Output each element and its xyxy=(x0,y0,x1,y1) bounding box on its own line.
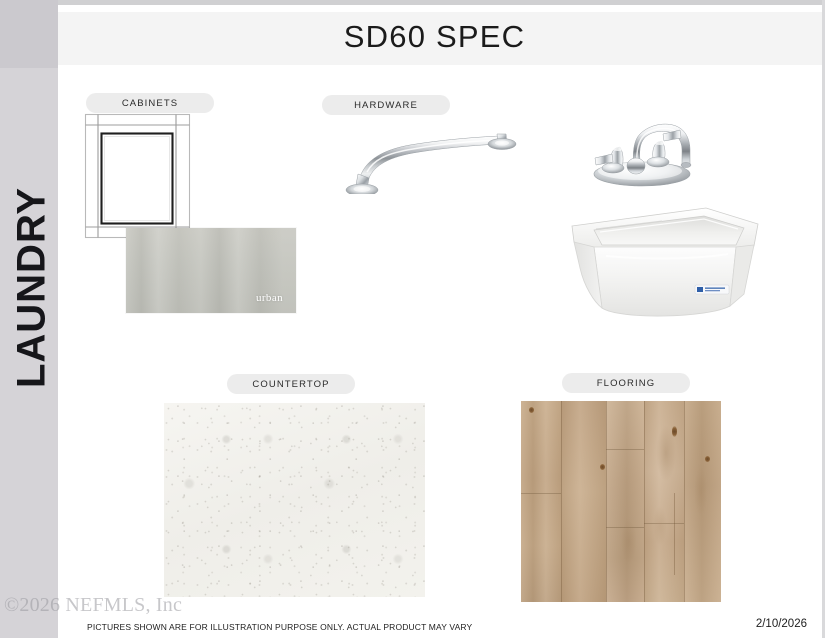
top-strip xyxy=(58,0,825,5)
wood-grain xyxy=(644,401,684,602)
cabinet-pull-image xyxy=(336,112,526,194)
page-title: SD60 SPEC xyxy=(58,19,811,55)
cabinet-finish-name: urban xyxy=(256,292,283,304)
wood-grain xyxy=(684,401,721,602)
countertop-sample-swatch xyxy=(164,403,425,597)
utility-sink-image xyxy=(558,202,768,327)
illustration-disclaimer: PICTURES SHOWN ARE FOR ILLUSTRATION PURP… xyxy=(87,622,472,632)
wood-knot xyxy=(529,407,534,413)
utility-sink-icon xyxy=(558,202,768,327)
sidebar-top-band xyxy=(0,0,58,68)
room-label: LAUNDRY xyxy=(10,148,55,428)
wood-knot xyxy=(672,426,677,437)
plank-butt-joint xyxy=(521,493,561,494)
document-date: 2/10/2026 xyxy=(756,618,807,630)
plank-seam xyxy=(561,401,562,602)
wood-grain xyxy=(606,401,644,602)
cabinet-finish-swatch: urban xyxy=(126,228,296,313)
room-sidebar: LAUNDRY xyxy=(0,0,58,638)
section-label-cabinets: CABINETS xyxy=(86,93,214,113)
laundry-faucet-image xyxy=(570,96,730,196)
spec-sheet-page: LAUNDRY SD60 SPEC CABINETS HARDWARE COUN… xyxy=(0,0,825,638)
cabinet-door-drawing xyxy=(84,113,196,240)
plank-crack xyxy=(674,493,675,575)
wood-knot xyxy=(705,456,710,462)
cabinet-door-icon xyxy=(84,113,196,240)
floor-plank xyxy=(561,401,606,602)
section-label-flooring: FLOORING xyxy=(562,373,690,393)
faucet-icon xyxy=(570,96,730,196)
wood-knot xyxy=(600,464,605,470)
floor-plank xyxy=(521,401,561,602)
flooring-sample-swatch xyxy=(521,401,721,602)
sink-brand-sticker xyxy=(695,285,729,294)
cabinet-pull-icon xyxy=(336,112,526,194)
section-label-countertop: COUNTERTOP xyxy=(227,374,355,394)
mls-watermark: ©2026 NEFMLS, Inc xyxy=(4,594,182,617)
